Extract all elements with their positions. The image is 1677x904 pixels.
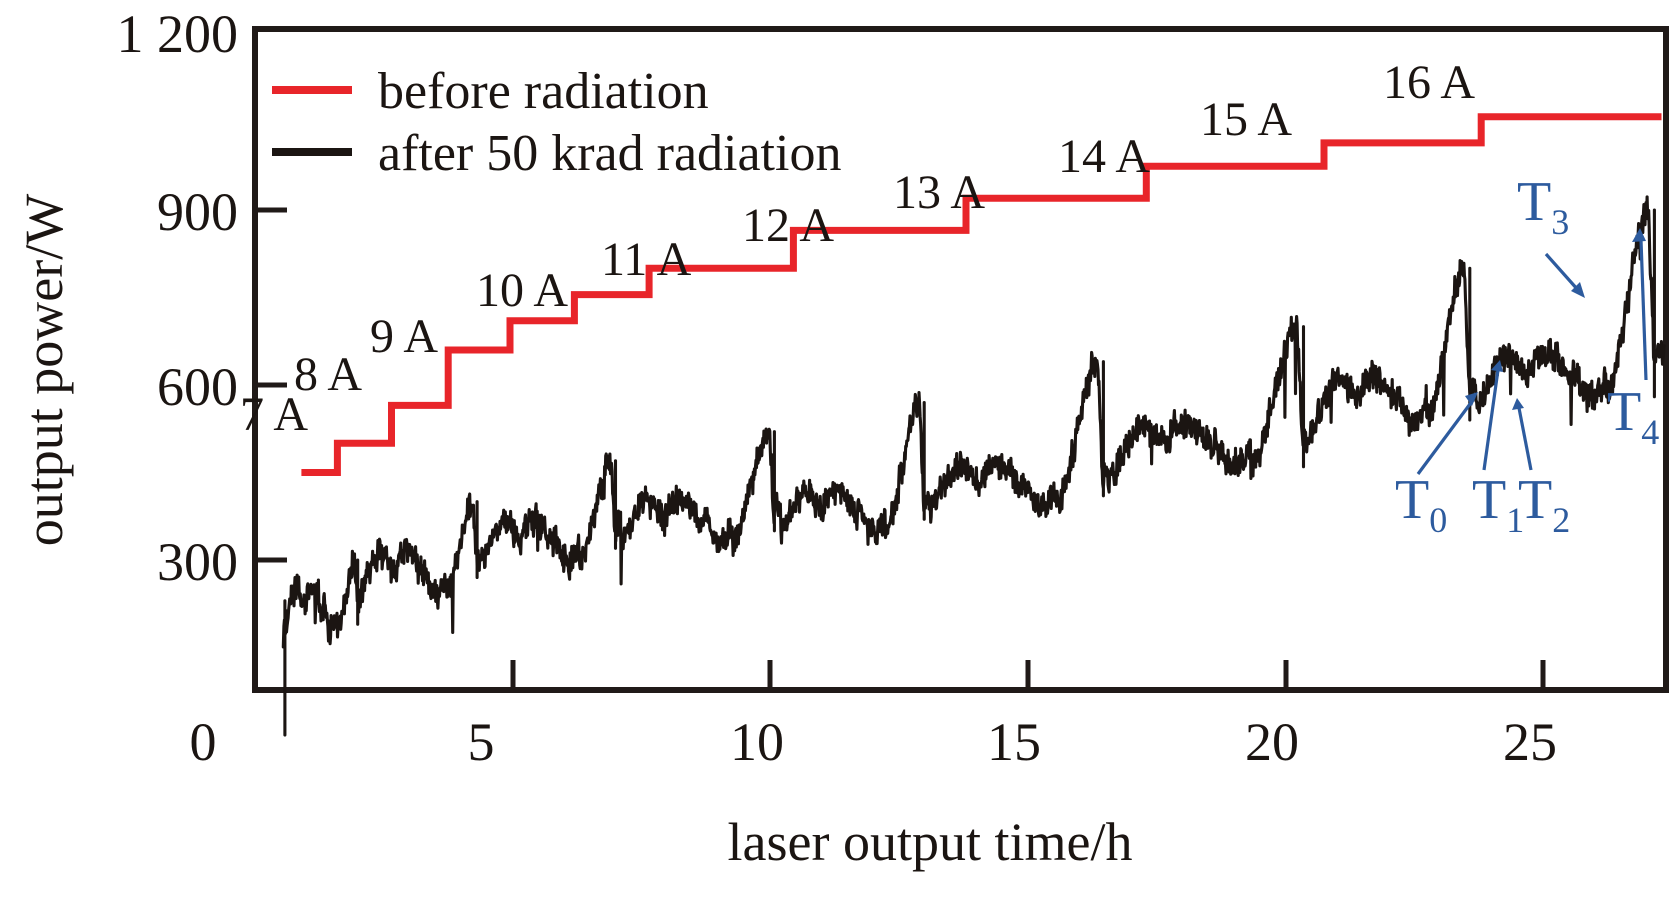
t1-base: T — [1472, 469, 1506, 531]
annotation-t1: T1 — [1472, 360, 1524, 540]
t3-label: T3 — [1517, 171, 1569, 242]
current-label-11a: 11 A — [601, 233, 692, 286]
y-axis-ticks — [255, 210, 287, 560]
t4-arrow-line — [1641, 240, 1646, 380]
legend-label-after-radiation: after 50 krad radiation — [378, 125, 841, 182]
chart-figure: 1 200 900 600 300 0 5 10 15 20 25 laser … — [0, 0, 1677, 904]
x-tick-label-10: 10 — [730, 712, 784, 772]
t2-label: T2 — [1518, 469, 1570, 540]
y-tick-label-600: 600 — [157, 357, 238, 417]
current-label-10a: 10 A — [476, 264, 568, 317]
t0-subscript: 0 — [1429, 500, 1447, 540]
t4-subscript: 4 — [1641, 412, 1659, 452]
annotation-t2: T2 — [1512, 398, 1570, 540]
t2-arrow-head — [1512, 398, 1524, 410]
t2-subscript: 2 — [1552, 500, 1570, 540]
t0-label: T0 — [1395, 469, 1447, 540]
t4-label: T4 — [1607, 381, 1659, 452]
t3-arrow-line — [1546, 254, 1578, 290]
current-label-8a: 8 A — [294, 348, 362, 401]
current-label-9a: 9 A — [370, 310, 438, 363]
t3-subscript: 3 — [1551, 202, 1569, 242]
current-label-14a: 14 A — [1058, 130, 1150, 183]
x-axis-title: laser output time/h — [728, 812, 1133, 872]
y-tick-label-1200: 1 200 — [117, 4, 239, 64]
x-tick-label-25: 25 — [1503, 712, 1557, 772]
x-tick-label-20: 20 — [1245, 712, 1299, 772]
t1-label: T1 — [1472, 469, 1524, 540]
t2-arrow-line — [1519, 408, 1531, 470]
chart-canvas: 1 200 900 600 300 0 5 10 15 20 25 laser … — [0, 0, 1677, 904]
x-axis-ticks — [513, 660, 1543, 690]
current-label-16a: 16 A — [1383, 56, 1475, 109]
y-axis-title: output power/W — [14, 194, 74, 546]
current-label-13a: 13 A — [893, 166, 985, 219]
legend: before radiation after 50 krad radiation — [272, 63, 841, 182]
y-tick-label-900: 900 — [157, 182, 238, 242]
t2-base: T — [1518, 469, 1552, 531]
annotation-t3: T3 — [1517, 171, 1585, 298]
legend-label-before-radiation: before radiation — [378, 63, 709, 120]
current-label-15a: 15 A — [1200, 93, 1292, 146]
current-label-12a: 12 A — [742, 199, 834, 252]
y-tick-label-300: 300 — [157, 532, 238, 592]
x-tick-label-5: 5 — [468, 712, 495, 772]
x-tick-label-15: 15 — [987, 712, 1041, 772]
t4-base: T — [1607, 381, 1641, 443]
t0-base: T — [1395, 469, 1429, 531]
t3-base: T — [1517, 171, 1551, 233]
x-tick-label-0: 0 — [190, 712, 217, 772]
